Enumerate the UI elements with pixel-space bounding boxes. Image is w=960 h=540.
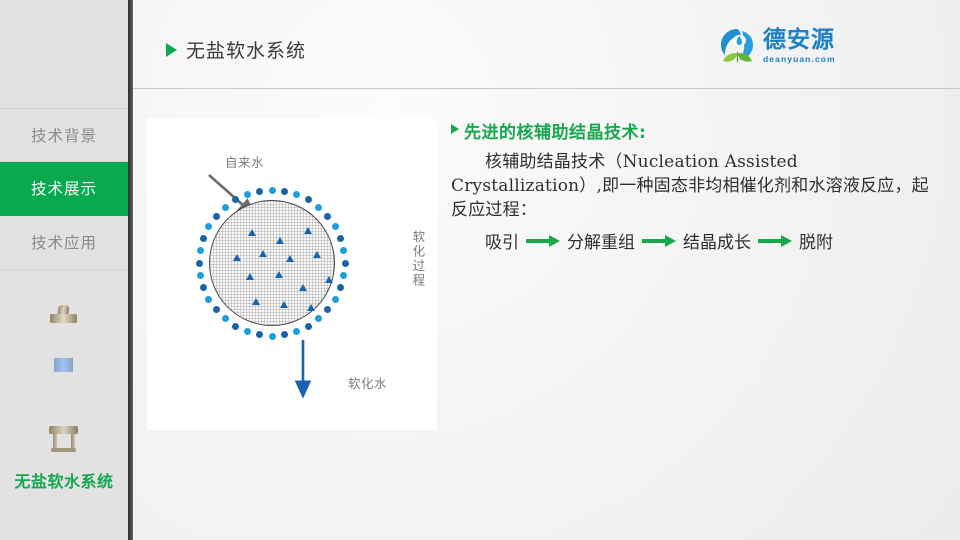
flow-step-3: 结晶成长 [683, 228, 751, 253]
brand-name: 德安源 [763, 29, 836, 52]
crystal-particle-icon [252, 298, 260, 305]
ion-dot-icon [315, 204, 322, 211]
crystal-particle-icon [307, 304, 315, 311]
ion-dot-icon [337, 235, 344, 242]
flow-step-4: 脱附 [799, 228, 833, 253]
ion-dot-icon [256, 188, 263, 195]
crystal-particle-icon [276, 237, 284, 244]
ion-dot-icon [222, 204, 229, 211]
crystal-particle-icon [313, 251, 321, 258]
content-heading: 先进的核辅助结晶技术: [451, 118, 946, 143]
brand-text: 德安源 deanyuan.com [763, 29, 836, 64]
content-heading-text: 先进的核辅助结晶技术: [464, 118, 646, 143]
product-base [51, 448, 76, 452]
sidebar-item-2[interactable]: 技术应用 [0, 216, 128, 270]
ion-dot-icon [281, 188, 288, 195]
crystal-particle-icon [299, 284, 307, 291]
header-divider [133, 88, 960, 89]
crystal-particle-icon [275, 271, 283, 278]
ion-dot-icon [332, 223, 339, 230]
triangle-bullet-icon [451, 124, 459, 134]
content-column: 先进的核辅助结晶技术: 核辅助结晶技术（Nucleation Assisted … [451, 118, 946, 253]
crystal-particle-icon [248, 229, 256, 236]
illustration-panel: 自来水 软化水 软化过程 [147, 118, 437, 430]
arrow-right-icon [642, 235, 676, 247]
ion-dot-icon [332, 296, 339, 303]
crystal-particle-icon [286, 255, 294, 262]
softening-process-diagram: 自来水 软化水 软化过程 [147, 118, 437, 430]
slide-canvas: 无盐软水系统 德安源 deanyuan.com [133, 0, 960, 540]
product-image [0, 292, 128, 467]
arrow-right-icon [758, 235, 792, 247]
sidebar-edge-shadow [128, 0, 133, 540]
ion-dot-icon [222, 315, 229, 322]
crystal-particle-icon [304, 227, 312, 234]
ion-dot-icon [196, 260, 203, 267]
crystal-particle-icon [259, 250, 267, 257]
crystal-particle-icon [233, 254, 241, 261]
page-title-text: 无盐软水系统 [186, 36, 306, 63]
brand-logo: 德安源 deanyuan.com [718, 27, 836, 65]
flow-step-2: 分解重组 [567, 228, 635, 253]
ion-dot-icon [232, 323, 239, 330]
ion-dot-icon [244, 191, 251, 198]
ion-dot-icon [305, 323, 312, 330]
presentation-slide: CDHA CDHA CDHA CDHA CDHA CDHA CDHA 无盐软水系… [0, 0, 960, 540]
crystal-particle-icon [246, 273, 254, 280]
product-label-band [54, 358, 73, 372]
ion-dot-icon [324, 213, 331, 220]
ion-dot-icon [244, 328, 251, 335]
sidebar-item-0[interactable]: 技术背景 [0, 108, 128, 162]
ion-dot-icon [342, 260, 349, 267]
ion-dot-icon [213, 306, 220, 313]
ion-dot-icon [269, 187, 276, 194]
ion-dot-icon [269, 333, 276, 340]
crystal-particle-icon [280, 301, 288, 308]
brand-url: deanyuan.com [763, 55, 836, 64]
leaf-droplet-icon [718, 27, 756, 65]
crystal-particle-icon [325, 276, 333, 283]
crystal-mesh-sphere [209, 200, 335, 326]
ion-dot-icon [197, 272, 204, 279]
triangle-bullet-icon [166, 43, 177, 57]
product-vessel-body [54, 320, 73, 428]
ion-dot-icon [213, 213, 220, 220]
page-title: 无盐软水系统 [166, 36, 306, 63]
sidebar-item-1[interactable]: 技术展示 [0, 162, 128, 216]
arrow-right-icon [526, 235, 560, 247]
process-flow: 吸引 分解重组 结晶成长 脱附 [451, 228, 946, 253]
content-paragraph: 核辅助结晶技术（Nucleation Assisted Crystallizat… [451, 150, 946, 222]
flow-step-1: 吸引 [485, 228, 519, 253]
ion-dot-icon [200, 235, 207, 242]
sidebar-nav[interactable]: 技术背景技术展示技术应用 [0, 108, 128, 270]
product-bottom-cap [49, 426, 78, 434]
sidebar: 技术背景技术展示技术应用 无盐软水系统 [0, 0, 128, 540]
sidebar-caption: 无盐软水系统 [0, 468, 128, 492]
ion-dot-icon [197, 247, 204, 254]
